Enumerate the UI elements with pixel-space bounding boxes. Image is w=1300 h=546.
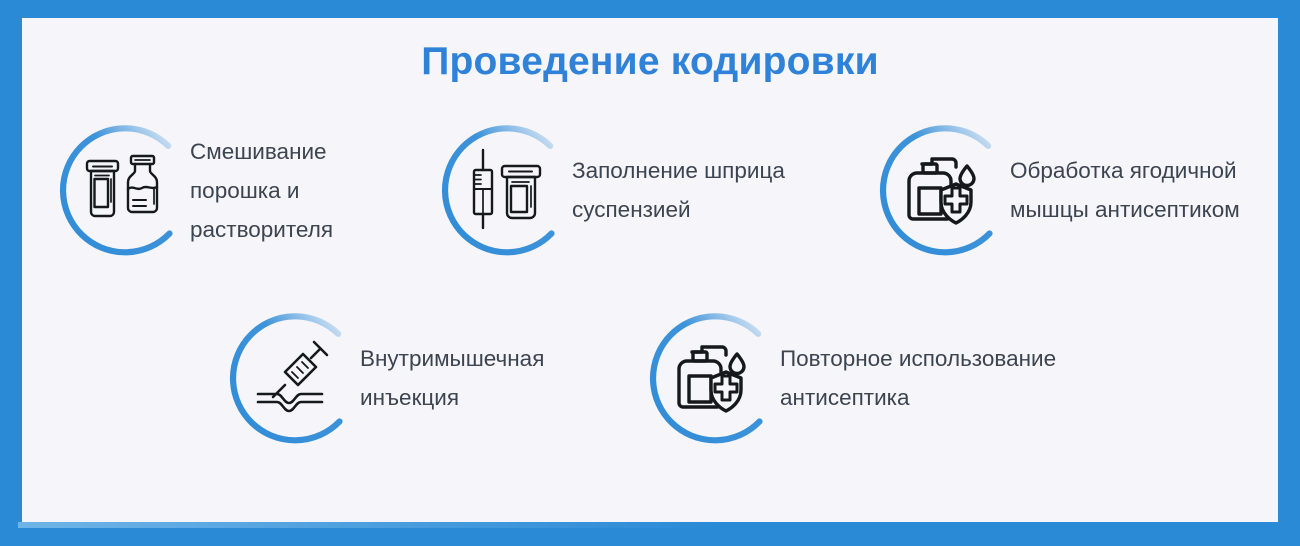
step-label-1: Смешивание порошка и растворителя: [190, 132, 333, 249]
step-badge-4: [222, 306, 366, 450]
step-badge-5: [642, 306, 786, 450]
syringe-vial-icon: [460, 144, 552, 236]
antiseptic-shield-icon: [898, 144, 990, 236]
frame-highlight-bottom: [18, 522, 718, 528]
step-item-1[interactable]: Смешивание порошка и растворителя: [52, 118, 333, 262]
step-badge-2: [434, 118, 578, 262]
step-item-3[interactable]: Обработка ягодичной мышцы антисептиком: [872, 118, 1240, 262]
step-item-5[interactable]: Повторное использование антисептика: [642, 306, 1056, 450]
intramuscular-injection-icon: [248, 332, 340, 424]
step-badge-3: [872, 118, 1016, 262]
step-item-4[interactable]: Внутримышечная инъекция: [222, 306, 544, 450]
infographic-poster: Проведение кодировки: [0, 0, 1300, 546]
step-label-4: Внутримышечная инъекция: [360, 339, 544, 417]
step-label-5: Повторное использование антисептика: [780, 339, 1056, 417]
step-badge-1: [52, 118, 196, 262]
vial-pair-icon: [78, 144, 170, 236]
step-label-2: Заполнение шприца суспензией: [572, 151, 785, 229]
page-title: Проведение кодировки: [22, 40, 1278, 84]
antiseptic-shield-icon: [668, 332, 760, 424]
poster-canvas: Проведение кодировки: [22, 18, 1278, 522]
step-item-2[interactable]: Заполнение шприца суспензией: [434, 118, 785, 262]
step-label-3: Обработка ягодичной мышцы антисептиком: [1010, 151, 1240, 229]
